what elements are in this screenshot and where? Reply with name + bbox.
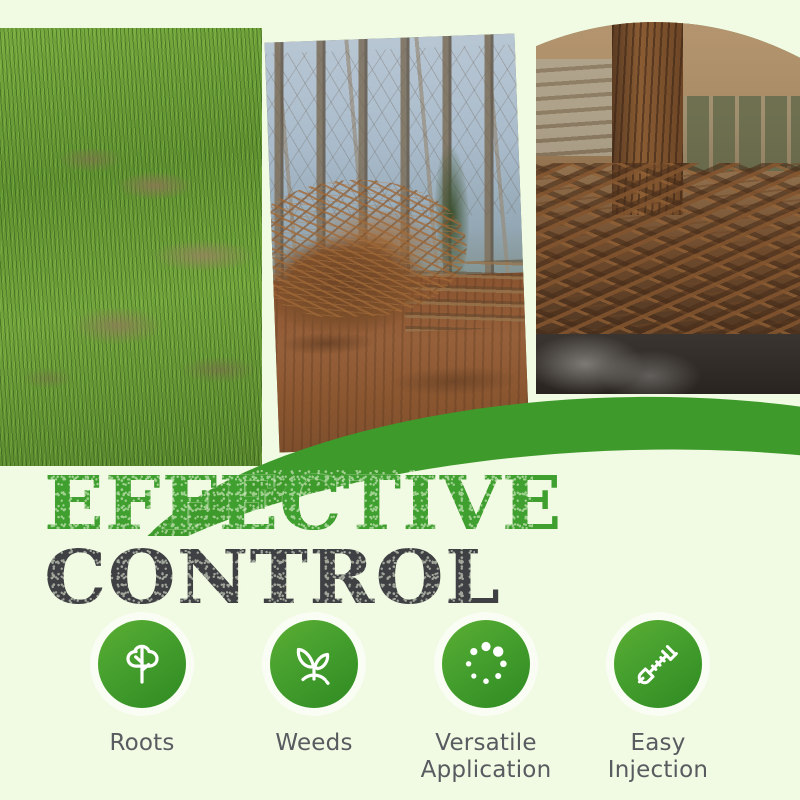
feature-versatile-application[interactable]: Versatile Application xyxy=(400,620,572,784)
feature-badge-roots xyxy=(98,620,186,708)
feature-badge-versatile-application xyxy=(442,620,530,708)
feature-label-versatile-application: Versatile Application xyxy=(421,730,552,784)
feature-badge-weeds xyxy=(270,620,358,708)
headline-block: Effective Control xyxy=(44,470,764,612)
headline-line-control: Control xyxy=(44,544,501,612)
sprout-icon xyxy=(288,638,340,690)
dots-ring-icon xyxy=(460,638,512,690)
feature-easy-injection[interactable]: Easy Injection xyxy=(572,620,744,784)
syringe-icon xyxy=(632,638,684,690)
tree-icon xyxy=(116,638,168,690)
uprooted-stump-photo xyxy=(265,34,530,453)
feature-label-roots: Roots xyxy=(109,730,174,757)
feature-row: Roots Weeds xyxy=(0,620,800,784)
exposed-roots-photo xyxy=(536,22,800,394)
feature-weeds[interactable]: Weeds xyxy=(228,620,400,757)
roots-stream-water xyxy=(536,334,800,394)
uprooted-stump-image xyxy=(265,34,530,453)
feature-label-weeds: Weeds xyxy=(275,730,352,757)
feature-roots[interactable]: Roots xyxy=(56,620,228,757)
exposed-roots-image xyxy=(536,22,800,394)
feature-badge-easy-injection xyxy=(614,620,702,708)
photo-collage xyxy=(0,0,800,470)
headline-line-effective: Effective xyxy=(44,470,563,538)
feature-label-easy-injection: Easy Injection xyxy=(608,730,708,784)
roots-root-tangle xyxy=(536,163,800,356)
grass-field-photo xyxy=(0,28,262,466)
promo-poster: Effective Control Roots xyxy=(0,0,800,800)
grass-field-image xyxy=(0,28,262,466)
